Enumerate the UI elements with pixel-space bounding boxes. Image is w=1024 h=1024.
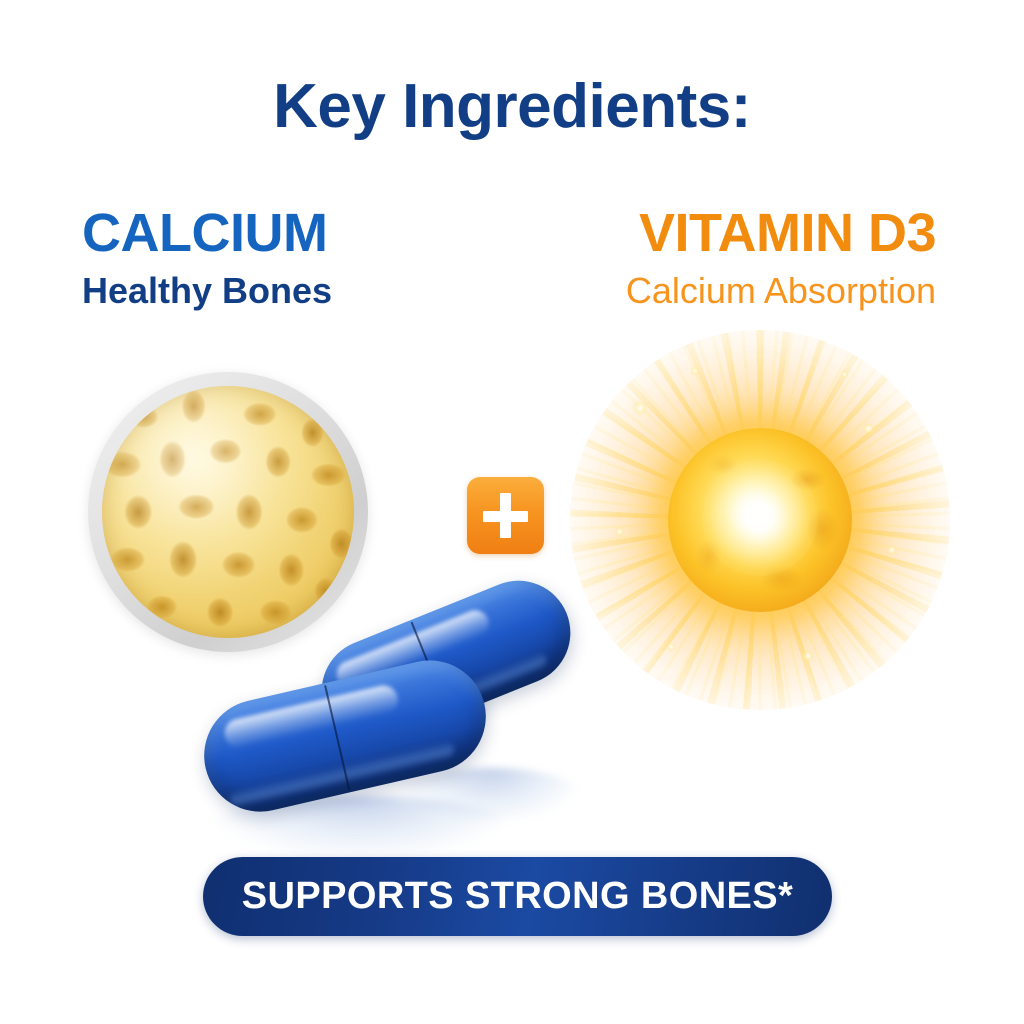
- ingredient-name-calcium: CALCIUM: [82, 205, 502, 262]
- sun-sparkle: [632, 400, 648, 416]
- capsule-reflection: [400, 768, 580, 820]
- infographic-canvas: Key Ingredients: CALCIUM Healthy Bones V…: [0, 0, 1024, 1024]
- capsule-highlight: [221, 682, 400, 750]
- supports-strong-bones-banner: SUPPORTS STRONG BONES*: [203, 857, 832, 936]
- ingredient-heading-vitamin-d3: VITAMIN D3 Calcium Absorption: [466, 205, 936, 310]
- banner-text: SUPPORTS STRONG BONES*: [242, 875, 793, 918]
- sun-sparkle: [666, 642, 676, 652]
- ingredient-name-vitamin-d3: VITAMIN D3: [466, 205, 936, 262]
- ingredient-benefit-calcium: Healthy Bones: [82, 271, 502, 311]
- sun-core-highlight: [702, 460, 818, 576]
- ingredient-heading-calcium: CALCIUM Healthy Bones: [82, 205, 502, 310]
- sun-sparkle: [840, 370, 849, 379]
- sun-sparkle: [886, 544, 898, 556]
- sun-sparkle: [862, 422, 875, 435]
- sun-sparkle: [614, 526, 625, 537]
- capsule-group: [190, 600, 590, 860]
- sun-icon: [570, 330, 950, 710]
- page-title: Key Ingredients:: [0, 74, 1024, 139]
- sun-sparkle: [690, 366, 700, 376]
- ingredient-benefit-vitamin-d3: Calcium Absorption: [466, 271, 936, 311]
- sun-sparkle: [802, 650, 814, 662]
- plus-icon: [467, 477, 544, 554]
- plus-icon-vertical-bar: [500, 493, 511, 538]
